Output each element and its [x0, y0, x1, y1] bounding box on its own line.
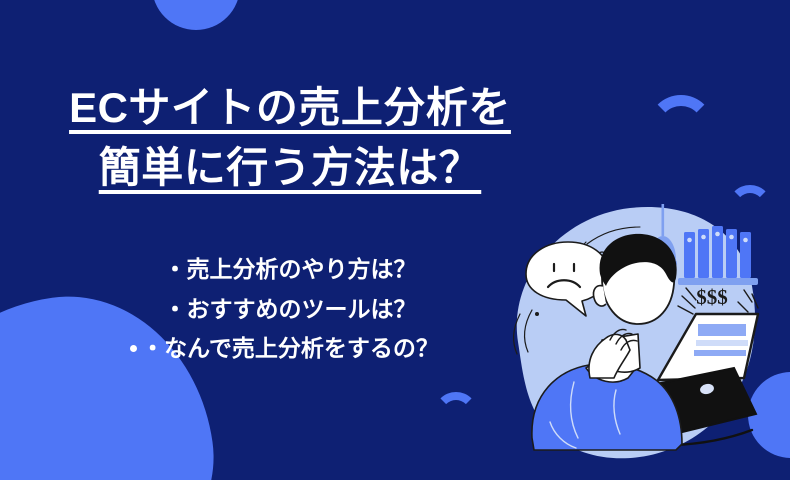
money-label: $$$ [696, 285, 728, 309]
decoration-arc-top-right [648, 95, 714, 161]
slide-canvas: ECサイトの売上分析を 簡単に行う方法は？ ・売上分析のやり方は？ ・おすすめの… [0, 0, 790, 480]
page-title: ECサイトの売上分析を 簡単に行う方法は？ [0, 78, 580, 197]
decoration-arc-bottom-mid [434, 392, 478, 436]
binder-shelf [678, 226, 758, 285]
page-title-line-1: ECサイトの売上分析を [0, 78, 580, 138]
hero-illustration: $$$ [490, 182, 790, 480]
decoration-circle-top [152, 0, 240, 30]
